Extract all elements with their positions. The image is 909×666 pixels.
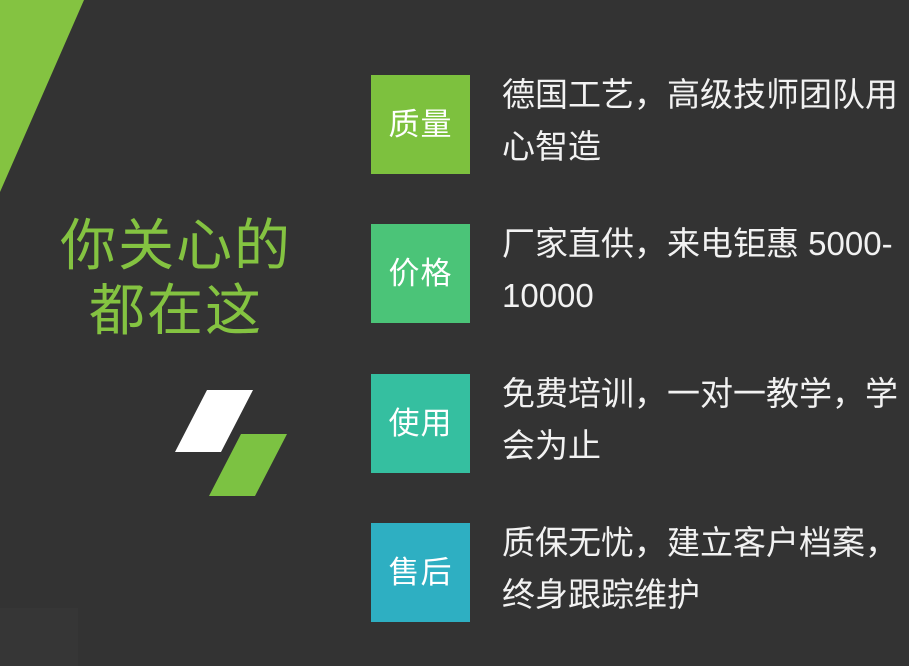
left-column: 你关心的 都在这 xyxy=(0,0,360,666)
double-parallelogram-logo xyxy=(175,390,287,496)
category-badge-usage[interactable]: 使用 xyxy=(371,374,470,473)
list-item: 售后 质保无忧，建立客户档案，终身跟踪维护 xyxy=(371,523,909,623)
feature-description: 德国工艺，高级技师团队用心智造 xyxy=(502,69,902,173)
badge-label: 质量 xyxy=(389,109,453,140)
badge-label: 售后 xyxy=(389,557,453,588)
feature-description: 免费培训，一对一教学，学会为止 xyxy=(502,368,902,472)
list-item: 使用 免费培训，一对一教学，学会为止 xyxy=(371,374,909,474)
category-badge-price[interactable]: 价格 xyxy=(371,224,470,323)
feature-description: 厂家直供，来电钜惠 5000-10000 xyxy=(502,218,902,322)
headline-line-1: 你关心的 xyxy=(0,214,352,279)
feature-list: 质量 德国工艺，高级技师团队用心智造 价格 厂家直供，来电钜惠 5000-100… xyxy=(371,0,909,666)
list-item: 价格 厂家直供，来电钜惠 5000-10000 xyxy=(371,224,909,324)
list-item: 质量 德国工艺，高级技师团队用心智造 xyxy=(371,75,909,175)
page-title: 你关心的 都在这 xyxy=(0,214,352,344)
category-badge-aftersales[interactable]: 售后 xyxy=(371,523,470,622)
badge-label: 使用 xyxy=(389,408,453,439)
headline-line-2: 都在这 xyxy=(0,279,352,344)
feature-description: 质保无忧，建立客户档案，终身跟踪维护 xyxy=(502,517,902,621)
slide-canvas: 你关心的 都在这 质量 德国工艺，高级技师团队用心智造 价格 厂家直供，来电钜惠… xyxy=(0,0,909,666)
badge-label: 价格 xyxy=(389,258,453,289)
category-badge-quality[interactable]: 质量 xyxy=(371,75,470,174)
